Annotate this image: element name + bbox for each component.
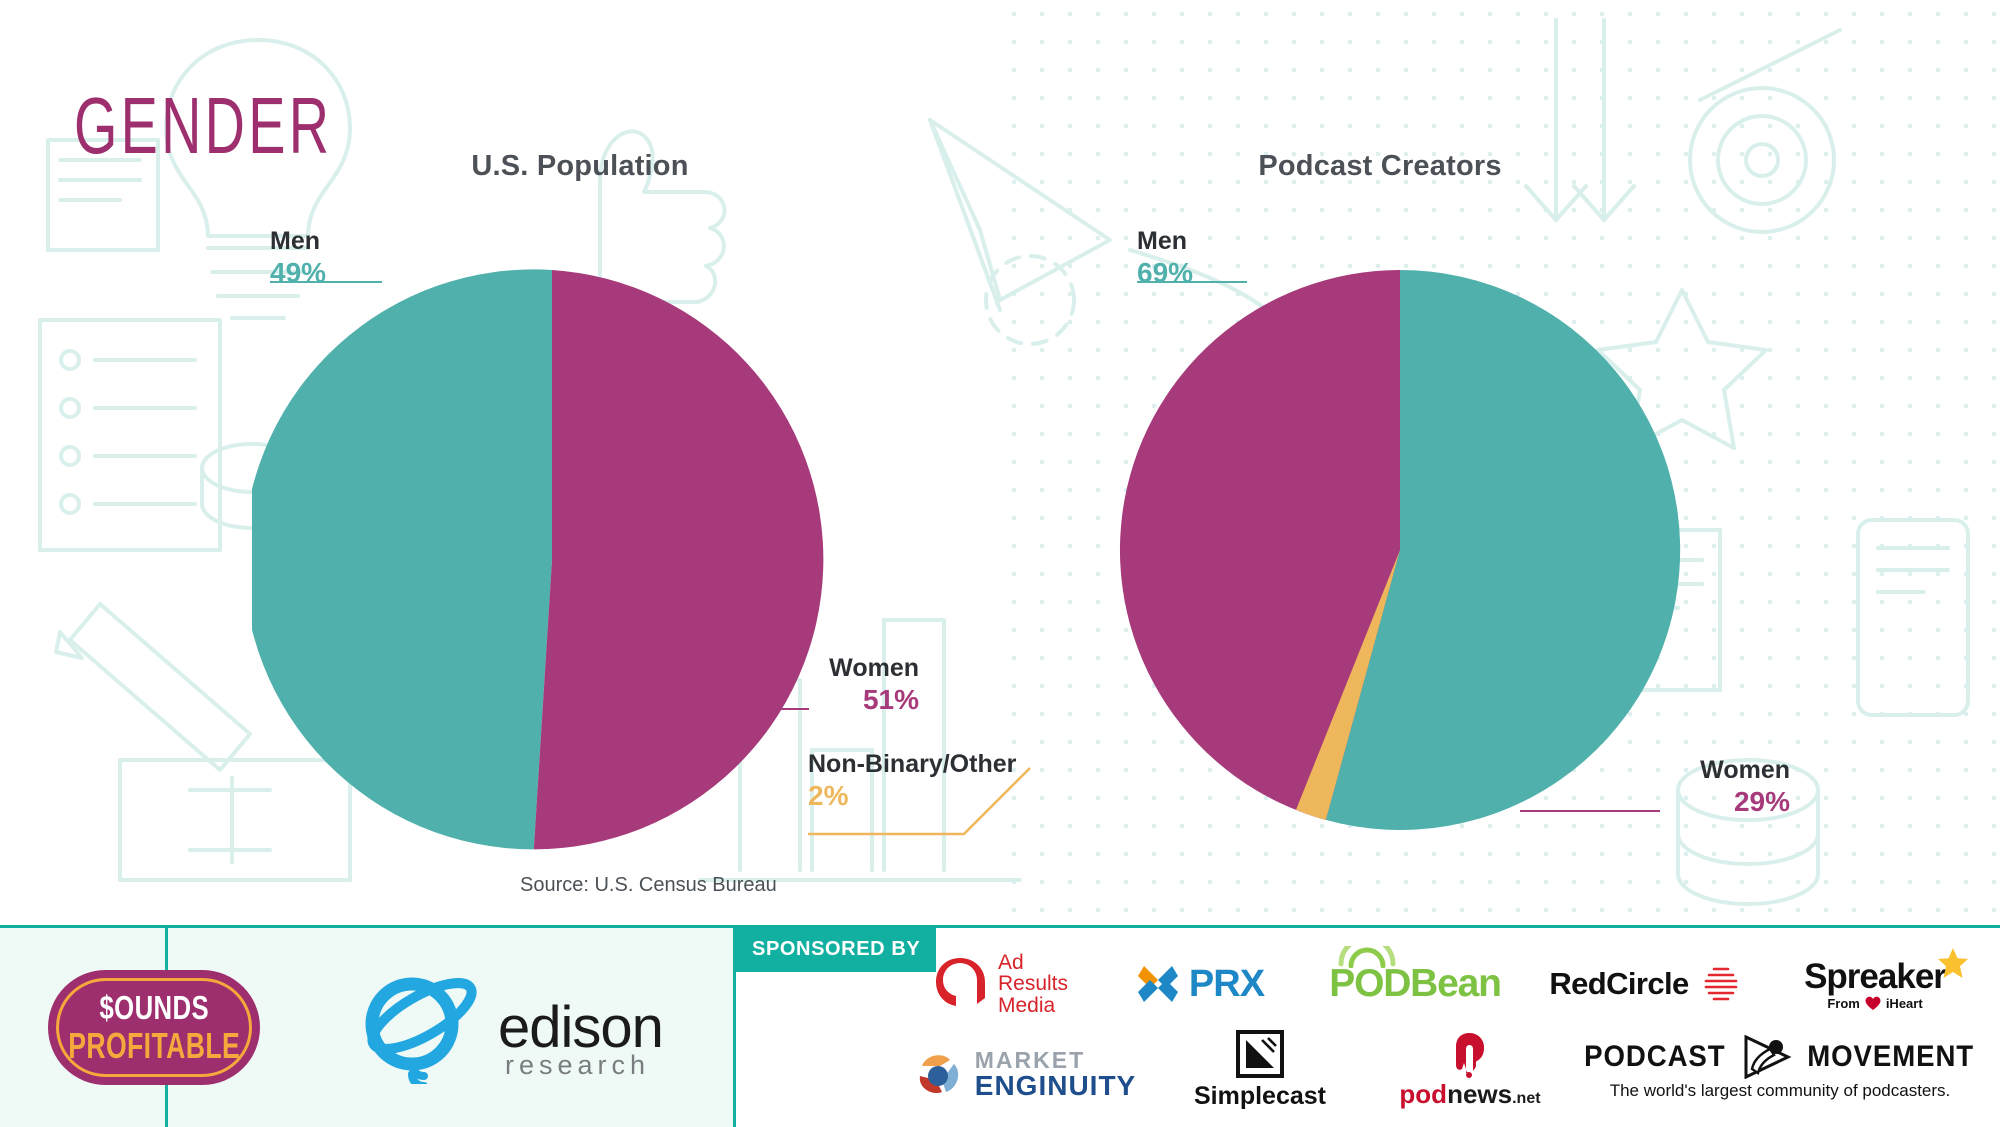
sponsor-podcast-movement[interactable]: PODCAST MOVEMENT The world's largest com… [1570, 1024, 1990, 1112]
sponsor-prx[interactable]: PRX [1100, 940, 1300, 1028]
arm-line3: Media [998, 995, 1068, 1016]
arm-line2: Results [998, 973, 1068, 994]
sponsor-simplecast[interactable]: Simplecast [1150, 1026, 1370, 1114]
spreaker-wordmark: Spreaker [1804, 957, 1946, 996]
footer: $OUNDS PROFITABLE edison research SPONSO… [0, 925, 2000, 1127]
edison-bulb-icon [350, 976, 500, 1084]
callout-men-us: Men 49% [270, 228, 326, 287]
chart-title-podcast-creators: Podcast Creators [1020, 150, 1740, 183]
redcircle-wordmark: RedCircle [1549, 966, 1688, 1002]
podcast-movement-mic-icon [1740, 1035, 1792, 1079]
chart-title-us-population: U.S. Population [230, 150, 930, 183]
callout-value-nonbinary-creators: 2% [808, 781, 1016, 811]
ad-results-media-wordmark: Ad Results Media [998, 952, 1068, 1016]
callout-women-creators: Women 29% [1490, 757, 1790, 816]
podcast-movement-tagline: The world's largest community of podcast… [1578, 1081, 1981, 1101]
callout-men-creators: Men 69% [1137, 228, 1193, 287]
arm-line1: Ad [998, 952, 1068, 973]
sounds-profitable-logo[interactable]: $OUNDS PROFITABLE [48, 970, 260, 1085]
market-enginuity-top: MARKET [975, 1049, 1136, 1072]
iheart-heart-icon [1864, 995, 1882, 1011]
iheart-wordmark: iHeart [1886, 996, 1923, 1011]
callout-label-nonbinary-creators: Non-Binary/Other [808, 751, 1016, 778]
footer-brand-area: $OUNDS PROFITABLE edison research [0, 928, 735, 1127]
sounds-profitable-line1: $OUNDS [99, 989, 209, 1027]
simplecast-wordmark: Simplecast [1194, 1082, 1326, 1111]
infographic-canvas: GENDER U.S. Population Men 49% Women 51%… [0, 0, 2000, 1127]
spreaker-sub-prefix: From [1827, 996, 1860, 1011]
market-enginuity-icon [914, 1050, 966, 1098]
podcast-movement-word2: MOVEMENT [1807, 1040, 1974, 1074]
sponsor-podbean[interactable]: PODBean [1300, 940, 1530, 1028]
podnews-drip-icon [1450, 1031, 1490, 1079]
callout-value-women-creators: 29% [1490, 787, 1790, 817]
sponsor-redcircle[interactable]: RedCircle [1530, 940, 1760, 1028]
podbean-wordmark: PODBean [1329, 962, 1500, 1005]
redcircle-stripes-icon [1701, 964, 1741, 1004]
callout-label-men-us: Men [270, 228, 326, 255]
podbean-wifi-icon [1337, 946, 1397, 968]
callout-value-men-creators: 69% [1137, 258, 1193, 288]
edison-research-logo[interactable]: edison research [350, 976, 710, 1084]
podnews-wordmark: podnews.net [1399, 1079, 1540, 1110]
edison-subtitle: research [505, 1050, 650, 1081]
source-note: Source: U.S. Census Bureau [520, 874, 777, 897]
callout-label-men-creators: Men [1137, 228, 1193, 255]
prx-x-icon [1136, 962, 1180, 1006]
spreaker-subline: From iHeart [1804, 995, 1946, 1011]
simplecast-icon [1236, 1030, 1284, 1078]
podcast-movement-word1: PODCAST [1585, 1040, 1726, 1074]
callout-women-us: Women 51% [629, 655, 919, 714]
prx-wordmark: PRX [1189, 963, 1264, 1006]
callout-value-men-us: 49% [270, 258, 326, 288]
callout-nonbinary-creators: Non-Binary/Other 2% [808, 751, 1016, 810]
podnews-part1: pod [1399, 1079, 1447, 1109]
sponsor-logo-grid: Ad Results Media PRX [900, 936, 1990, 1126]
callout-label-women-us: Women [629, 655, 919, 682]
pie-slice-men [252, 269, 552, 849]
sponsor-market-enginuity[interactable]: MARKET ENGINUITY [900, 1030, 1150, 1118]
podnews-part2: news [1447, 1079, 1512, 1109]
sounds-profitable-line2: PROFITABLE [68, 1025, 240, 1067]
ad-results-media-icon [932, 956, 988, 1012]
sponsor-podnews[interactable]: podnews.net [1370, 1026, 1570, 1114]
callout-label-women-creators: Women [1490, 757, 1790, 784]
market-enginuity-bottom: ENGINUITY [975, 1072, 1136, 1100]
pie-slice-women [534, 270, 824, 849]
sponsor-spreaker[interactable]: Spreaker From iHeart [1760, 940, 1990, 1028]
sponsor-ad-results-media[interactable]: Ad Results Media [900, 940, 1100, 1028]
spreaker-star-icon [1936, 947, 1970, 981]
podnews-part3: .net [1512, 1090, 1540, 1107]
callout-value-women-us: 51% [629, 685, 919, 715]
pie-us-population [252, 260, 852, 865]
